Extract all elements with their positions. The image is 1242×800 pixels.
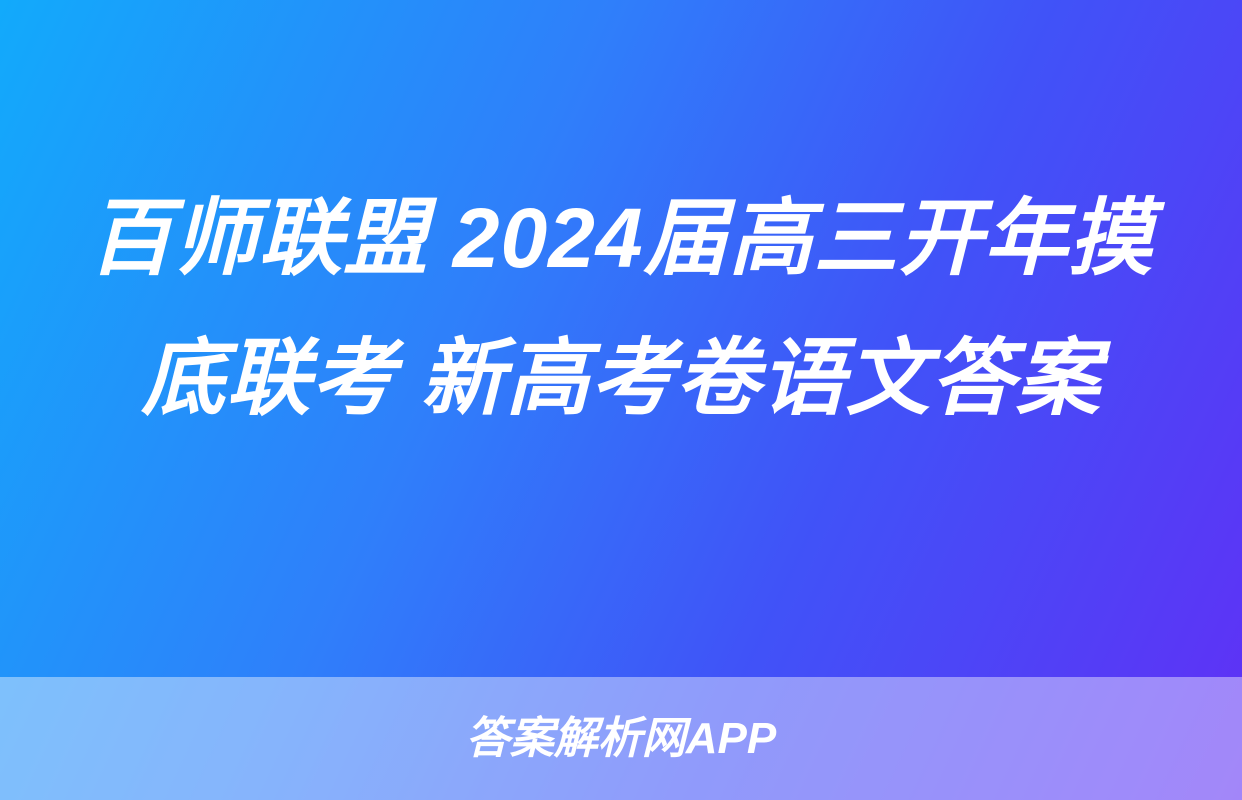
page-title: 百师联盟 2024届高三开年摸底联考 新高考卷语文答案 <box>0 168 1242 448</box>
watermark-text: 答案解析网APP <box>466 717 776 761</box>
poster-canvas: 百师联盟 2024届高三开年摸底联考 新高考卷语文答案 答案解析网APP <box>0 0 1242 800</box>
watermark-band: 答案解析网APP <box>0 677 1242 800</box>
